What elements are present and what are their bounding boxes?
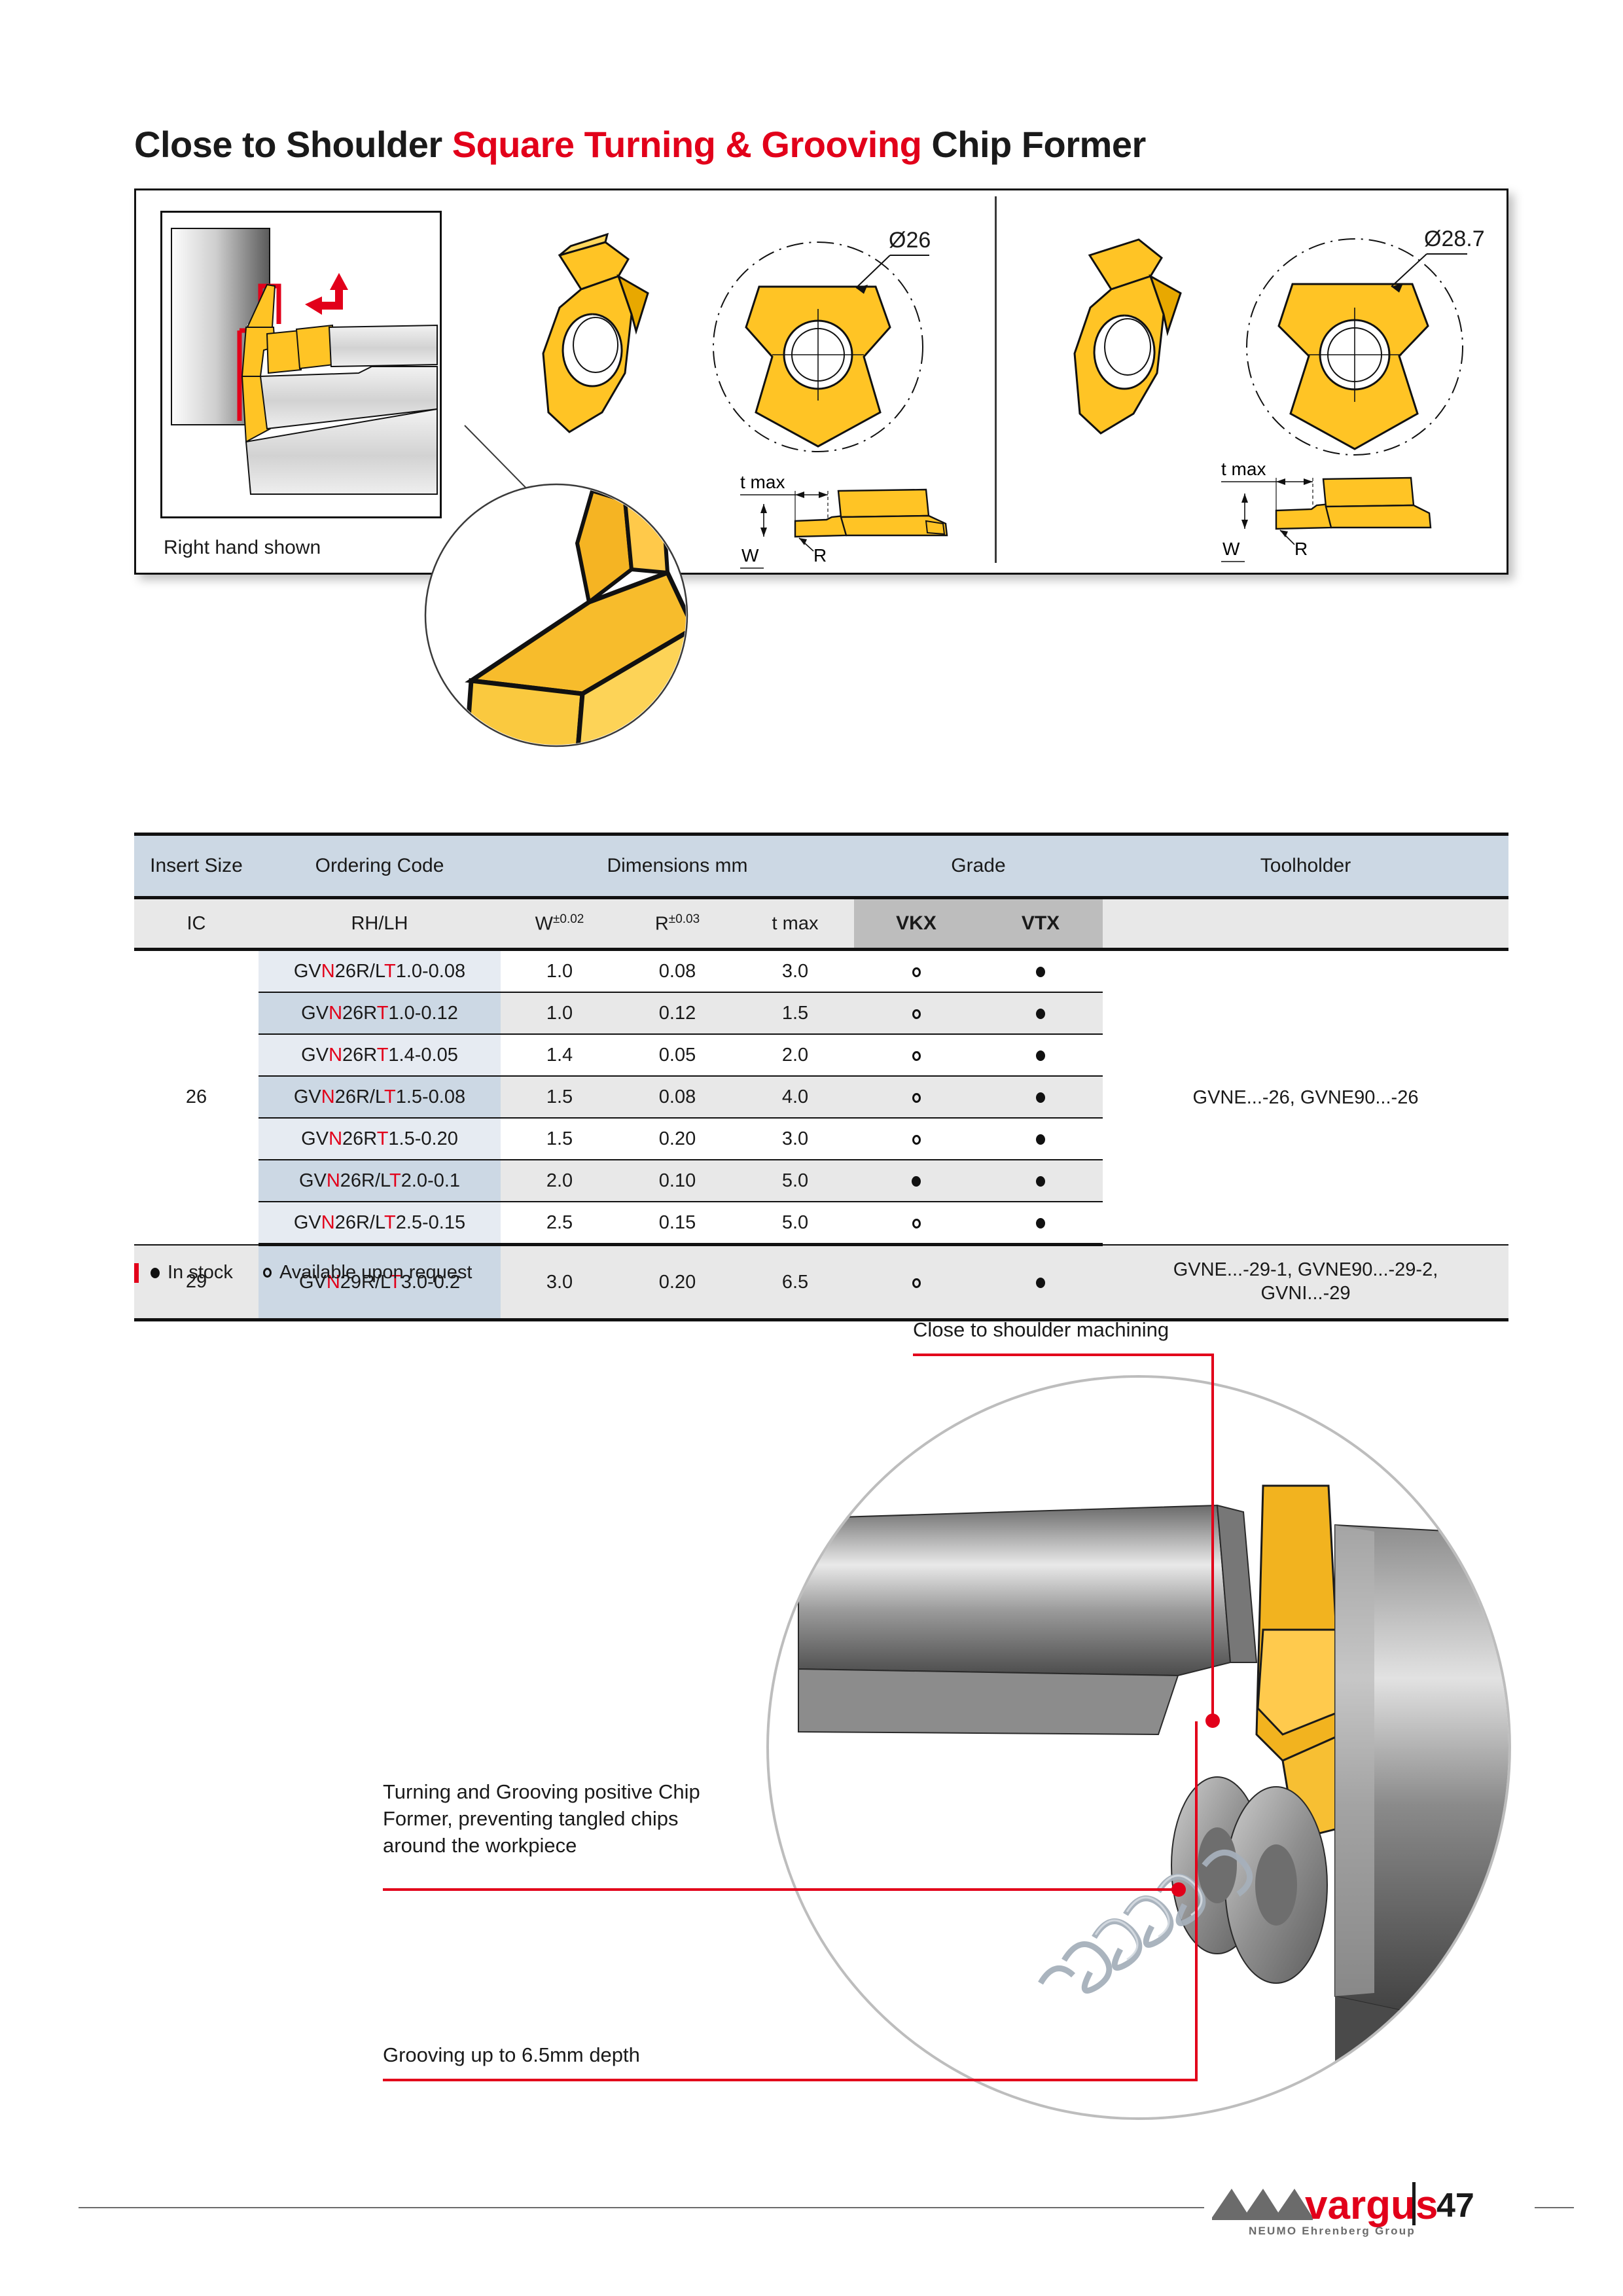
t-max-label-right: t max: [1221, 459, 1266, 479]
figure-divider: [995, 196, 997, 563]
cell-tmax: 6.5: [736, 1245, 854, 1320]
cell-grade-vtx: [978, 1076, 1103, 1118]
table-group-header-row: Insert Size Ordering Code Dimensions mm …: [134, 834, 1508, 898]
cell-ordering-code: GVN26R/LT1.5-0.08: [259, 1076, 501, 1118]
cell-w: 1.5: [501, 1118, 618, 1160]
legend-filled-dot-icon: [151, 1268, 160, 1278]
grade-filled-dot-icon: [1036, 1218, 1045, 1229]
leader-top-endpoint: [1205, 1713, 1220, 1728]
footer-rule-left: [79, 2207, 1204, 2208]
annotation-bottom: Grooving up to 6.5mm depth: [383, 2042, 640, 2069]
cell-grade-vtx: [978, 1160, 1103, 1202]
diameter-label-right: Ø28.7: [1424, 226, 1485, 251]
subheader-vkx: VKX: [854, 898, 978, 950]
cell-grade-vkx: [854, 1118, 978, 1160]
grade-open-dot-icon: [912, 1219, 921, 1229]
subheader-w-tol: ±0.02: [553, 912, 584, 926]
grade-open-dot-icon: [912, 1093, 921, 1103]
leader-top-vertical: [1211, 1354, 1214, 1720]
leader-bottom-vertical: [1195, 1721, 1198, 2080]
subheader-r: R±0.03: [618, 898, 736, 950]
legend-open-dot-icon: [263, 1268, 272, 1278]
cell-ordering-code: GVN26RT1.0-0.12: [259, 992, 501, 1034]
subheader-w-text: W: [535, 913, 553, 934]
legend: In stock Available upon request: [134, 1262, 472, 1283]
logo-wordmark: vargus: [1305, 2183, 1438, 2228]
page-number: 47: [1436, 2186, 1474, 2225]
subheader-vtx: VTX: [978, 898, 1103, 950]
cell-insert-size: 26: [134, 950, 259, 1245]
w-label-right: W: [1222, 539, 1240, 559]
subheader-rhlh: RH/LH: [259, 898, 501, 950]
cell-grade-vtx: [978, 1245, 1103, 1320]
cell-tmax: 3.0: [736, 1118, 854, 1160]
title-part-1: Close to Shoulder: [134, 124, 452, 165]
annotation-middle: Turning and Grooving positive Chip Forme…: [383, 1779, 762, 1859]
table-row: 26GVN26R/LT1.0-0.081.00.083.0GVNE...-26,…: [134, 950, 1508, 993]
cell-ordering-code: GVN26R/LT2.0-0.1: [259, 1160, 501, 1202]
cell-w: 2.5: [501, 1202, 618, 1245]
cell-r: 0.10: [618, 1160, 736, 1202]
logo-tagline: NEUMO Ehrenberg Group: [1249, 2225, 1416, 2237]
cell-toolholder: GVNE...-29-1, GVNE90...-29-2,GVNI...-29: [1103, 1245, 1508, 1320]
cell-grade-vkx: [854, 1160, 978, 1202]
w-label-left: W: [741, 545, 759, 565]
grade-open-dot-icon: [912, 1051, 921, 1061]
cell-grade-vkx: [854, 950, 978, 993]
machining-photo: [759, 1368, 1518, 2127]
cell-grade-vtx: [978, 1034, 1103, 1076]
r-label-right: R: [1294, 539, 1308, 559]
cell-ordering-code: GVN26RT1.4-0.05: [259, 1034, 501, 1076]
cell-grade-vtx: [978, 1202, 1103, 1245]
subheader-tmax: t max: [736, 898, 854, 950]
cell-w: 1.0: [501, 992, 618, 1034]
page-separator: [1412, 2182, 1416, 2225]
subheader-ic: IC: [134, 898, 259, 950]
cell-tmax: 4.0: [736, 1076, 854, 1118]
grade-filled-dot-icon: [1036, 1009, 1045, 1019]
cell-r: 0.05: [618, 1034, 736, 1076]
header-dimensions: Dimensions mm: [501, 834, 854, 898]
grade-open-dot-icon: [912, 1135, 921, 1145]
annotation-top: Close to shoulder machining: [913, 1317, 1169, 1344]
cell-r: 0.20: [618, 1118, 736, 1160]
cell-toolholder: GVNE...-26, GVNE90...-26: [1103, 950, 1508, 1245]
title-part-3: Chip Former: [921, 124, 1145, 165]
page-title: Close to Shoulder Square Turning & Groov…: [134, 123, 1146, 166]
cell-tmax: 3.0: [736, 950, 854, 993]
cell-grade-vkx: [854, 1202, 978, 1245]
cell-r: 0.08: [618, 950, 736, 993]
cell-r: 0.15: [618, 1202, 736, 1245]
leader-middle-endpoint: [1171, 1882, 1186, 1897]
grade-open-dot-icon: [912, 967, 921, 977]
cell-ordering-code: GVN26RT1.5-0.20: [259, 1118, 501, 1160]
cell-tmax: 5.0: [736, 1202, 854, 1245]
product-table: Insert Size Ordering Code Dimensions mm …: [134, 833, 1508, 1321]
grade-filled-dot-icon: [1036, 1176, 1045, 1187]
header-ordering-code: Ordering Code: [259, 834, 501, 898]
dimension-drawing-left: t max W R: [710, 458, 985, 576]
leader-middle-horizontal: [383, 1888, 1178, 1891]
cell-w: 1.0: [501, 950, 618, 993]
leader-top-horizontal: [913, 1354, 1214, 1356]
grade-filled-dot-icon: [1036, 967, 1045, 977]
cell-grade-vtx: [978, 1118, 1103, 1160]
cell-grade-vkx: [854, 1076, 978, 1118]
cell-ordering-code: GVN26R/LT1.0-0.08: [259, 950, 501, 993]
subheader-r-text: R: [655, 913, 669, 934]
grade-filled-dot-icon: [1036, 1134, 1045, 1145]
cell-tmax: 2.0: [736, 1034, 854, 1076]
legend-in-stock: In stock: [168, 1262, 233, 1283]
magnified-callout: [366, 406, 733, 772]
table-sub-header-row: IC RH/LH W±0.02 R±0.03 t max VKX VTX: [134, 898, 1508, 950]
header-toolholder: Toolholder: [1103, 834, 1508, 898]
grade-open-dot-icon: [912, 1009, 921, 1019]
legend-on-request: Available upon request: [279, 1262, 473, 1283]
subheader-r-tol: ±0.03: [669, 912, 700, 926]
cell-r: 0.12: [618, 992, 736, 1034]
dimension-drawing-right: t max W R: [1191, 445, 1466, 569]
footer-rule-right: [1535, 2207, 1574, 2208]
cell-w: 1.5: [501, 1076, 618, 1118]
subheader-toolholder-blank: [1103, 898, 1508, 950]
cell-w: 1.4: [501, 1034, 618, 1076]
cell-w: 2.0: [501, 1160, 618, 1202]
grade-open-dot-icon: [912, 1278, 921, 1288]
grade-filled-dot-icon: [1036, 1278, 1045, 1288]
grade-filled-dot-icon: [912, 1176, 921, 1187]
header-insert-size: Insert Size: [134, 834, 259, 898]
cell-tmax: 1.5: [736, 992, 854, 1034]
cell-grade-vkx: [854, 992, 978, 1034]
right-hand-note: Right hand shown: [164, 537, 321, 559]
cell-grade-vkx: [854, 1245, 978, 1320]
cell-r: 0.08: [618, 1076, 736, 1118]
diameter-label-left: Ø26: [889, 228, 931, 253]
cell-tmax: 5.0: [736, 1160, 854, 1202]
title-part-accent: Square Turning & Grooving: [452, 124, 922, 165]
r-label-left: R: [813, 545, 827, 565]
cell-grade-vtx: [978, 950, 1103, 993]
cell-w: 3.0: [501, 1245, 618, 1320]
legend-red-bar: [134, 1263, 139, 1283]
cell-grade-vkx: [854, 1034, 978, 1076]
grade-filled-dot-icon: [1036, 1092, 1045, 1103]
cell-grade-vtx: [978, 992, 1103, 1034]
leader-bottom-horizontal: [383, 2079, 1198, 2081]
cell-r: 0.20: [618, 1245, 736, 1320]
cell-ordering-code: GVN26R/LT2.5-0.15: [259, 1202, 501, 1245]
header-grade: Grade: [854, 834, 1103, 898]
subheader-w: W±0.02: [501, 898, 618, 950]
t-max-label-left: t max: [740, 472, 785, 492]
grade-filled-dot-icon: [1036, 1050, 1045, 1061]
